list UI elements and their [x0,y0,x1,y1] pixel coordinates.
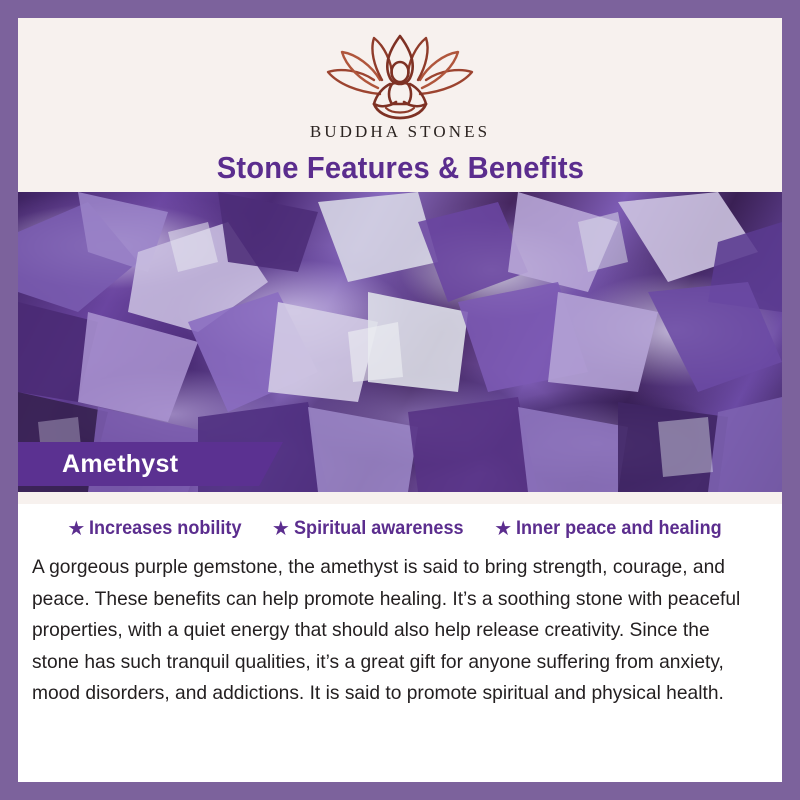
section-title: Stone Features & Benefits [216,150,583,186]
infographic-card: BUDDHA STONES Stone Features & Benefits [18,18,782,782]
divider-strip [18,492,782,504]
header: BUDDHA STONES Stone Features & Benefits [18,18,782,192]
star-icon: ★ [272,519,290,539]
stone-description: A gorgeous purple gemstone, the amethyst… [32,552,755,710]
feature-item: ★ Inner peace and healing [494,518,732,540]
lotus-meditation-figure-icon [320,28,480,120]
feature-label: Inner peace and healing [516,518,722,540]
stone-name-banner: Amethyst [18,442,283,486]
feature-label: Spiritual awareness [294,518,464,540]
feature-item: ★ Increases nobility [67,518,249,540]
star-icon: ★ [67,519,85,539]
feature-list: ★ Increases nobility ★ Spiritual awarene… [18,504,782,546]
brand-name: BUDDHA STONES [310,122,490,142]
feature-label: Increases nobility [89,518,241,540]
amethyst-photo: Amethyst [18,192,782,492]
content-section: ★ Increases nobility ★ Spiritual awarene… [18,504,782,782]
star-icon: ★ [494,519,512,539]
stone-name-label: Amethyst [62,450,178,479]
infographic-page: BUDDHA STONES Stone Features & Benefits [0,0,800,800]
feature-item: ★ Spiritual awareness [272,518,472,540]
